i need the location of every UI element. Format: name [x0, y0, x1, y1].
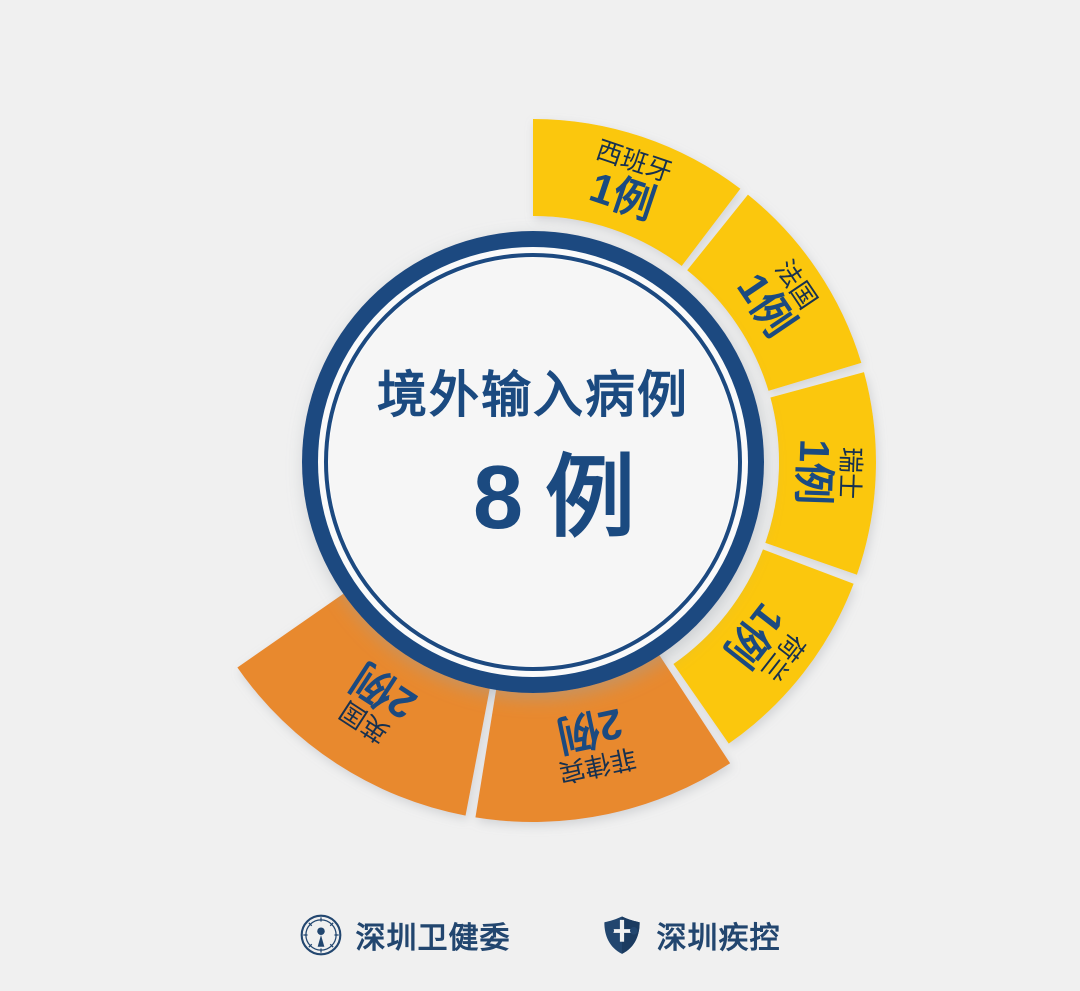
- shenzhen-cdc-shield-icon: [601, 914, 643, 956]
- center-title: 境外输入病例: [377, 367, 689, 423]
- center-count-number: 8: [473, 448, 523, 548]
- footer-org-name: 深圳卫健委: [356, 913, 511, 957]
- center-face: [329, 258, 737, 666]
- imported-cases-donut-chart: 西班牙1例法国1例瑞士1例荷兰1例菲律宾2例英国2例 境外输入病例 8 例: [0, 0, 1080, 991]
- footer-org-cdc: 深圳疾控: [601, 913, 781, 957]
- footer-credits: 深圳卫健委 深圳疾控: [0, 895, 1080, 975]
- shenzhen-health-commission-emblem-icon: [300, 914, 342, 956]
- footer-org-health-commission: 深圳卫健委: [300, 913, 511, 957]
- center-medallion: [302, 231, 764, 693]
- infographic-canvas: 西班牙1例法国1例瑞士1例荷兰1例菲律宾2例英国2例 境外输入病例 8 例: [0, 0, 1080, 991]
- center-count-unit: 例: [545, 448, 635, 548]
- footer-org-name: 深圳疾控: [657, 913, 781, 957]
- donut-slice-瑞士[interactable]: [765, 372, 876, 575]
